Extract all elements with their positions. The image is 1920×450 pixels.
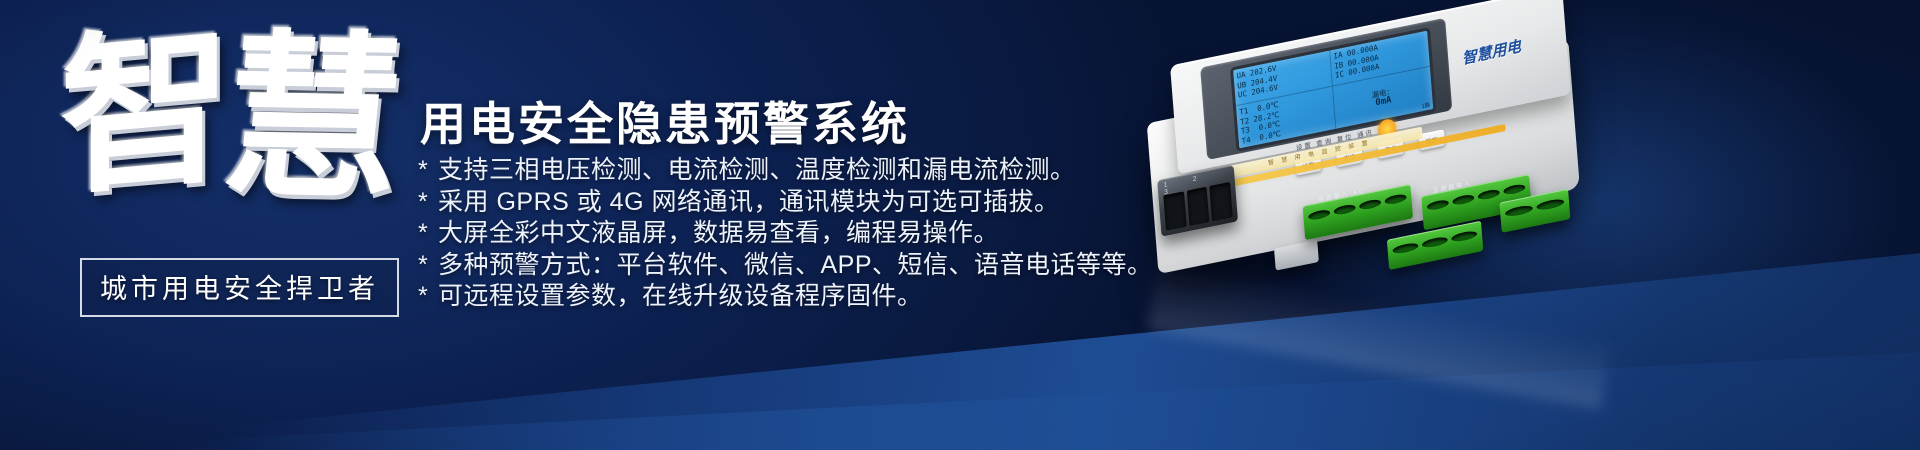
terminal-slot	[1422, 236, 1448, 249]
terminal-slot	[1308, 209, 1330, 221]
terminal-slot	[1451, 230, 1477, 243]
feature-list: *支持三相电压检测、电流检测、温度检测和漏电流检测。 *采用 GPRS 或 4G…	[418, 155, 1153, 313]
bullet-text: 可远程设置参数，在线升级设备程序固件。	[438, 282, 923, 310]
terminal-pin	[1187, 187, 1210, 226]
terminal-slot	[1478, 188, 1500, 200]
bullet-marker: *	[418, 218, 438, 250]
bullet-marker: *	[418, 187, 438, 219]
bullet-text: 采用 GPRS 或 4G 网络通讯，通讯模块为可选可插拔。	[438, 188, 1059, 216]
list-item: *采用 GPRS 或 4G 网络通讯，通讯模块为可选可插拔。	[418, 187, 1153, 219]
list-item: *多种预警方式：平台软件、微信、APP、短信、语音电话等等。	[418, 250, 1153, 282]
promo-banner: 智慧 城市用电安全捍卫者 用电安全隐患预警系统 *支持三相电压检测、电流检测、温…	[0, 0, 1920, 450]
lcd-leakage-value: 0mA	[1375, 96, 1392, 109]
terminal-slot	[1452, 194, 1474, 206]
lcd-badge: 1路	[1421, 101, 1430, 111]
terminal-slot	[1359, 198, 1381, 210]
bullet-marker: *	[418, 155, 438, 187]
tagline-box: 城市用电安全捍卫者	[80, 258, 399, 317]
list-item: *大屏全彩中文液晶屏，数据易查看，编程易操作。	[418, 218, 1153, 250]
product-device-image: UA 202.6V UB 204.4V UC 204.6V IA 00.000A…	[1113, 0, 1648, 391]
bullet-text: 大屏全彩中文液晶屏，数据易查看，编程易操作。	[438, 219, 999, 247]
terminal-slot	[1392, 242, 1418, 255]
page-title: 用电安全隐患预警系统	[420, 88, 910, 154]
calligraphy-title: 智慧	[53, 18, 427, 280]
terminal-slot	[1505, 204, 1533, 218]
tagline-text: 城市用电安全捍卫者	[100, 274, 379, 304]
calligraphy-char-hui: 慧	[215, 27, 405, 208]
terminal-slot	[1503, 183, 1525, 195]
terminal-slot	[1427, 199, 1449, 211]
bullet-text: 多种预警方式：平台软件、微信、APP、短信、语音电话等等。	[438, 251, 1153, 279]
terminal-pin	[1163, 191, 1186, 230]
terminal-slot	[1385, 193, 1407, 205]
bullet-marker: *	[418, 281, 438, 313]
terminal-slot	[1536, 198, 1564, 212]
terminal-pin	[1210, 182, 1233, 221]
bullet-text: 支持三相电压检测、电流检测、温度检测和漏电流检测。	[438, 156, 1076, 184]
calligraphy-char-zhi: 智	[60, 19, 226, 204]
list-item: *支持三相电压检测、电流检测、温度检测和漏电流检测。	[418, 155, 1153, 187]
diagonal-light-band-secondary	[0, 300, 1920, 450]
bullet-marker: *	[418, 250, 438, 282]
lcd-t4-label: T4	[1241, 135, 1251, 146]
device-green-terminal-3	[1387, 221, 1483, 270]
terminal-slot	[1334, 203, 1356, 215]
list-item: *可远程设置参数，在线升级设备程序固件。	[418, 281, 1153, 313]
